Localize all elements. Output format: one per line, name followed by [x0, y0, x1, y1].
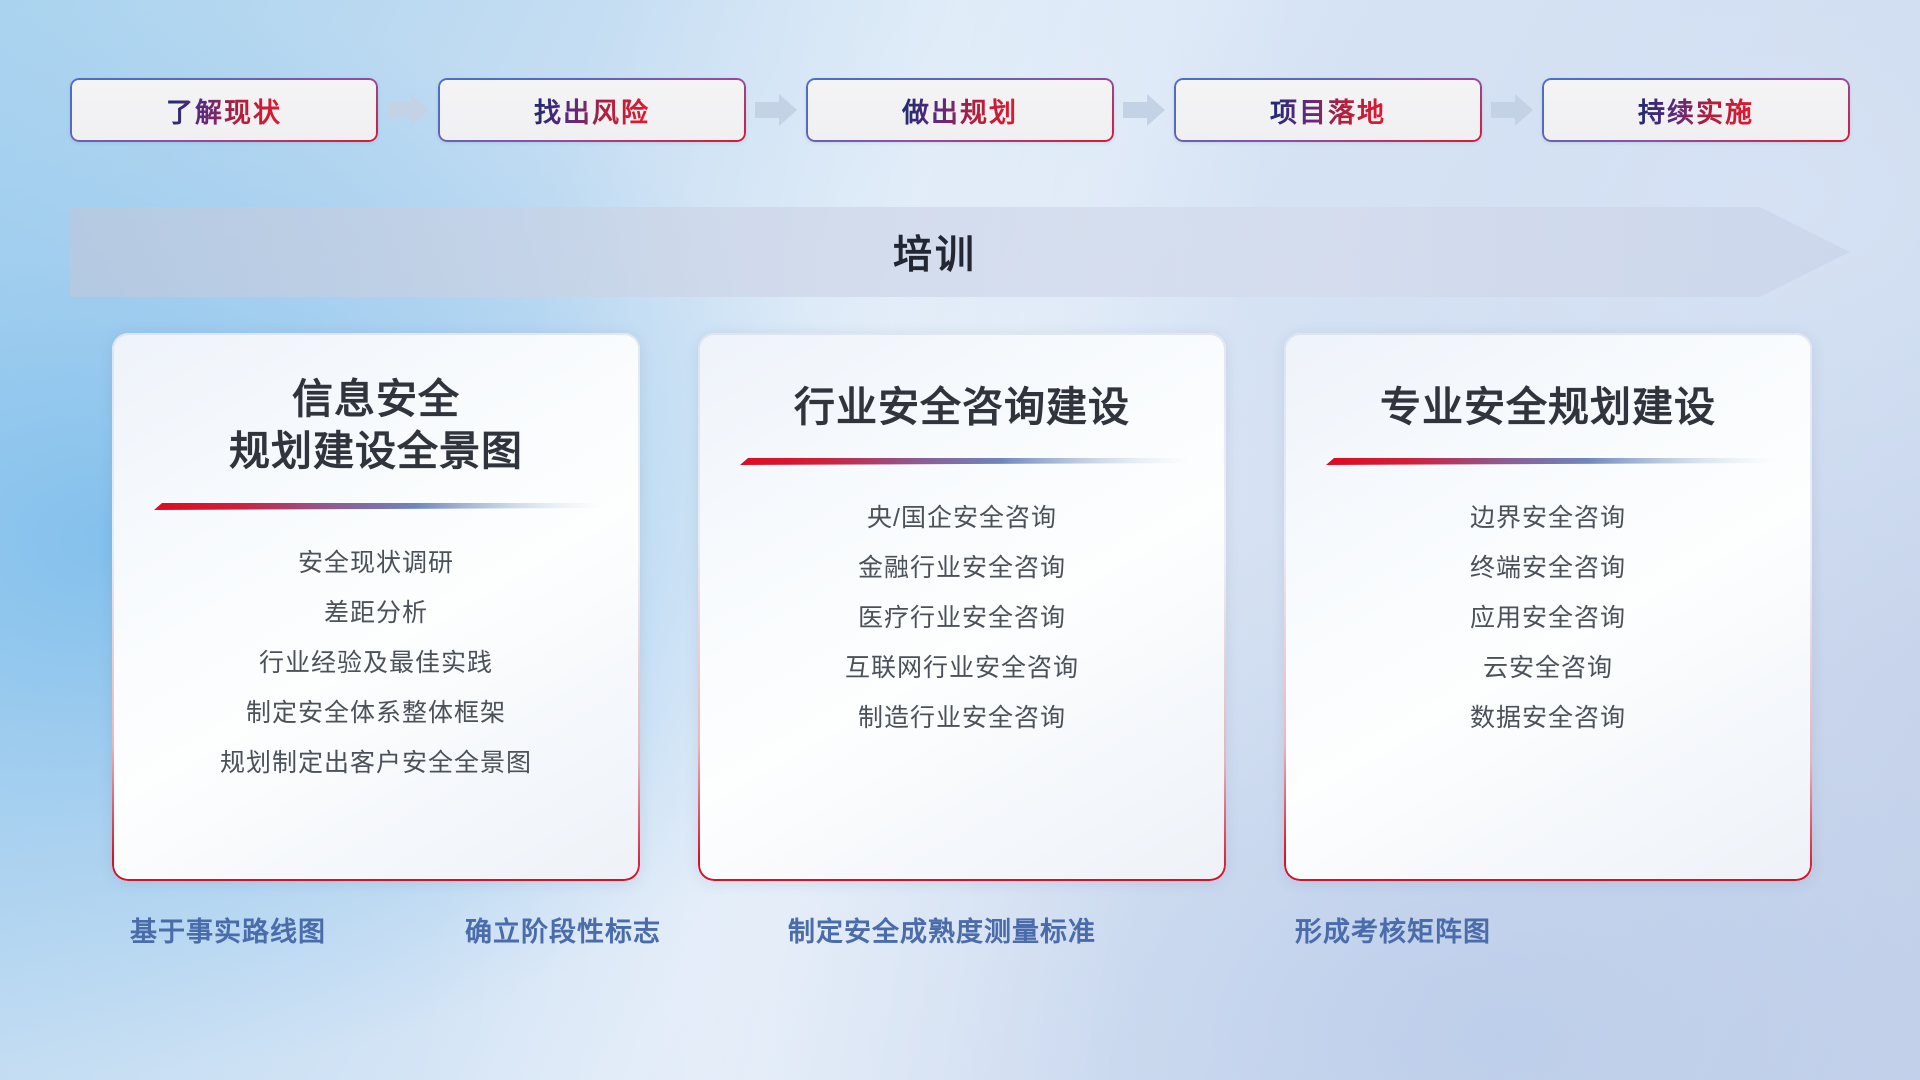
training-banner: 培训: [70, 207, 1850, 297]
list-item[interactable]: 医疗行业安全咨询: [858, 593, 1066, 643]
step-arrow-3: [1114, 76, 1174, 144]
card-inner-1: 信息安全 规划建设全景图安全现状调研差距分析行业经验及最佳实践制定安全体系整体框…: [112, 333, 640, 881]
card-list-3: 边界安全咨询终端安全咨询应用安全咨询云安全咨询数据安全咨询: [1310, 493, 1786, 743]
card-divider-1: [148, 500, 604, 514]
step-label-1: 了解现状: [166, 91, 282, 130]
list-item[interactable]: 云安全咨询: [1483, 643, 1613, 693]
card-inner-2: 行业安全咨询建设央/国企安全咨询金融行业安全咨询医疗行业安全咨询互联网行业安全咨…: [698, 333, 1226, 881]
list-item[interactable]: 规划制定出客户安全全景图: [220, 738, 532, 788]
caption-2: 确立阶段性标志: [465, 910, 661, 949]
list-item[interactable]: 终端安全咨询: [1470, 543, 1626, 593]
card-3[interactable]: 专业安全规划建设边界安全咨询终端安全咨询应用安全咨询云安全咨询数据安全咨询: [1284, 333, 1812, 881]
list-item[interactable]: 金融行业安全咨询: [858, 543, 1066, 593]
card-inner-3: 专业安全规划建设边界安全咨询终端安全咨询应用安全咨询云安全咨询数据安全咨询: [1284, 333, 1812, 881]
step-arrow-1: [378, 76, 438, 144]
arrow-right-icon: [755, 94, 797, 126]
step-label-2: 找出风险: [534, 91, 650, 130]
list-item[interactable]: 数据安全咨询: [1470, 693, 1626, 743]
arrow-right-icon: [1123, 94, 1165, 126]
list-item[interactable]: 安全现状调研: [298, 538, 454, 588]
step-arrow-4: [1482, 76, 1542, 144]
list-item[interactable]: 行业经验及最佳实践: [259, 638, 493, 688]
card-divider-3: [1320, 455, 1776, 469]
caption-1: 基于事实路线图: [130, 910, 326, 949]
step-arrow-2: [746, 76, 806, 144]
list-item[interactable]: 央/国企安全咨询: [867, 493, 1057, 543]
card-divider-2: [734, 455, 1190, 469]
caption-4: 形成考核矩阵图: [1295, 910, 1491, 949]
step-box-3[interactable]: 做出规划: [806, 78, 1114, 142]
card-title-2: 行业安全咨询建设: [794, 381, 1130, 433]
gradient-divider-icon: [734, 455, 1190, 469]
card-list-2: 央/国企安全咨询金融行业安全咨询医疗行业安全咨询互联网行业安全咨询制造行业安全咨…: [724, 493, 1200, 743]
card-title-1: 信息安全 规划建设全景图: [229, 373, 523, 478]
arrow-right-icon: [387, 94, 429, 126]
step-label-3: 做出规划: [902, 91, 1018, 130]
card-2[interactable]: 行业安全咨询建设央/国企安全咨询金融行业安全咨询医疗行业安全咨询互联网行业安全咨…: [698, 333, 1226, 881]
card-title-3: 专业安全规划建设: [1380, 381, 1716, 433]
gradient-divider-icon: [1320, 455, 1776, 469]
step-box-5[interactable]: 持续实施: [1542, 78, 1850, 142]
step-box-4[interactable]: 项目落地: [1174, 78, 1482, 142]
card-row: 信息安全 规划建设全景图安全现状调研差距分析行业经验及最佳实践制定安全体系整体框…: [112, 333, 1812, 883]
caption-3: 制定安全成熟度测量标准: [788, 910, 1096, 949]
step-label-4: 项目落地: [1270, 91, 1386, 130]
step-box-2[interactable]: 找出风险: [438, 78, 746, 142]
card-list-1: 安全现状调研差距分析行业经验及最佳实践制定安全体系整体框架规划制定出客户安全全景…: [138, 538, 614, 788]
gradient-divider-icon: [148, 500, 604, 514]
list-item[interactable]: 边界安全咨询: [1470, 493, 1626, 543]
card-1[interactable]: 信息安全 规划建设全景图安全现状调研差距分析行业经验及最佳实践制定安全体系整体框…: [112, 333, 640, 881]
list-item[interactable]: 应用安全咨询: [1470, 593, 1626, 643]
list-item[interactable]: 差距分析: [324, 588, 428, 638]
arrow-right-icon: [1491, 94, 1533, 126]
banner-title: 培训: [70, 207, 1800, 297]
caption-row: 基于事实路线图确立阶段性标志制定安全成熟度测量标准形成考核矩阵图: [0, 910, 1920, 960]
list-item[interactable]: 制定安全体系整体框架: [246, 688, 506, 738]
list-item[interactable]: 互联网行业安全咨询: [845, 643, 1079, 693]
process-step-row: 了解现状找出风险做出规划项目落地持续实施: [70, 76, 1850, 144]
list-item[interactable]: 制造行业安全咨询: [858, 693, 1066, 743]
step-label-5: 持续实施: [1638, 91, 1754, 130]
step-box-1[interactable]: 了解现状: [70, 78, 378, 142]
